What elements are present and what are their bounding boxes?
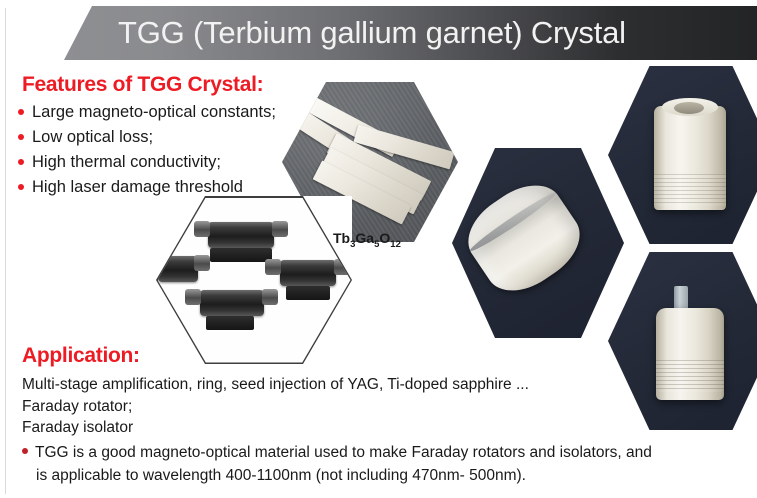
- left-rule-divider: [5, 8, 6, 494]
- formula-o: O: [379, 230, 390, 246]
- application-line: Faraday rotator;: [22, 396, 529, 418]
- bullet-dot-icon: [18, 159, 24, 165]
- device-barrel: [200, 290, 264, 316]
- faraday-isolator-device: [158, 250, 206, 294]
- device-barrel: [208, 222, 274, 248]
- photo-faraday-isolators: [156, 196, 352, 364]
- crystal-formula-caption: Tb3Ga5O12: [333, 230, 401, 250]
- application-note: TGG is a good magneto-optical material u…: [22, 441, 734, 487]
- formula-sub-12: 12: [390, 239, 401, 250]
- crystal-boule: [455, 171, 593, 305]
- faraday-isolator-device: [264, 254, 351, 306]
- application-line: Multi-stage amplification, ring, seed in…: [22, 374, 529, 396]
- application-heading: Application:: [22, 344, 140, 368]
- formula-tb: Tb: [333, 230, 350, 246]
- feature-label: Large magneto-optical constants;: [32, 103, 276, 121]
- device-mount-foot: [206, 316, 254, 330]
- feature-label: High thermal conductivity;: [32, 153, 221, 171]
- photo-crystal-cylinder-top: [608, 66, 757, 244]
- note-line-2: is applicable to wavelength 400-1100nm (…: [36, 464, 734, 487]
- device-barrel: [280, 260, 336, 286]
- features-list: Large magneto-optical constants; Low opt…: [18, 100, 276, 200]
- formula-ga: Ga: [355, 230, 374, 246]
- device-end-cap: [194, 255, 210, 271]
- application-line: Faraday isolator: [22, 417, 529, 439]
- device-end-cap: [194, 221, 210, 237]
- feature-label: Low optical loss;: [32, 128, 153, 146]
- crystal-cylinder-rings: [656, 360, 724, 392]
- hexagon-inner: [158, 198, 351, 363]
- list-item: High thermal conductivity;: [18, 150, 276, 175]
- device-mount-foot: [210, 248, 272, 262]
- device-mount-foot: [286, 286, 330, 300]
- bullet-dot-icon: [18, 109, 24, 115]
- bullet-dot-icon: [18, 184, 24, 190]
- photo-crystal-cylinder-bottom: [608, 252, 757, 430]
- list-item: Large magneto-optical constants;: [18, 100, 276, 125]
- bullet-dot-icon: [22, 448, 28, 454]
- bullet-dot-icon: [18, 134, 24, 140]
- features-heading: Features of TGG Crystal:: [22, 73, 263, 97]
- page-title: TGG (Terbium gallium garnet) Crystal: [118, 15, 626, 51]
- note-line-1: TGG is a good magneto-optical material u…: [35, 444, 652, 461]
- device-end-cap: [265, 259, 281, 275]
- photo-crystal-boule: [452, 148, 624, 338]
- feature-label: High laser damage threshold: [32, 178, 243, 196]
- device-end-cap: [272, 221, 288, 237]
- crystal-cylinder-rings: [654, 174, 726, 206]
- application-lines: Multi-stage amplification, ring, seed in…: [22, 374, 529, 439]
- title-banner: TGG (Terbium gallium garnet) Crystal: [64, 6, 757, 60]
- slide-canvas: TGG (Terbium gallium garnet) Crystal Fea…: [0, 0, 757, 498]
- list-item: Low optical loss;: [18, 125, 276, 150]
